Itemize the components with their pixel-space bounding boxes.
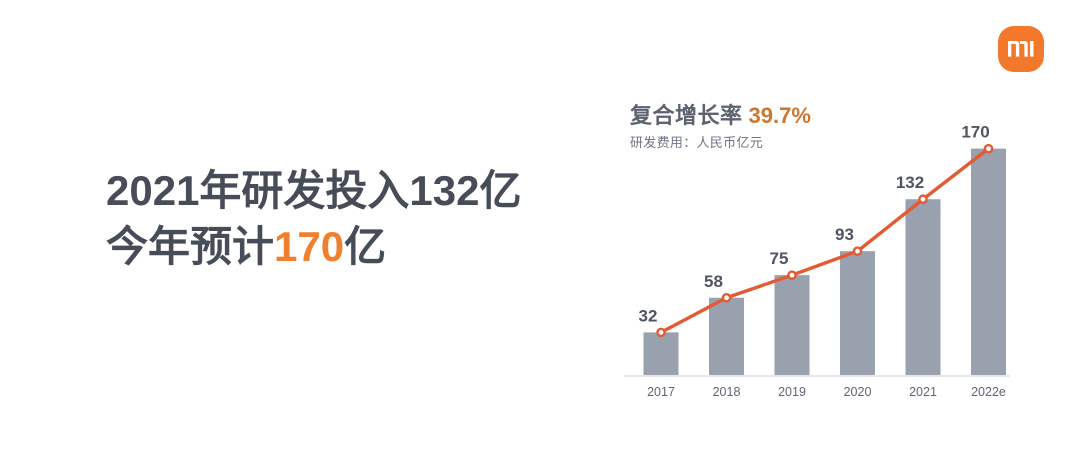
data-point-marker: [854, 248, 861, 255]
bar-value-label: 32: [639, 306, 658, 325]
chart-svg: 32587593132170 201720182019202020212022e: [610, 86, 1020, 406]
xiaomi-mi-logo: [998, 26, 1044, 72]
bar: [775, 275, 810, 375]
chart-plot-area: 32587593132170 201720182019202020212022e: [610, 86, 1020, 386]
mi-wordmark-icon: [1007, 39, 1035, 59]
bar-value-label: 132: [896, 173, 924, 192]
headline-line-1: 2021年研发投入132亿: [106, 163, 576, 219]
x-tick-label: 2017: [647, 385, 675, 399]
bar: [709, 298, 744, 375]
headline-accent-number: 170: [274, 223, 344, 270]
x-tick-label: 2019: [778, 385, 806, 399]
rnd-spending-chart: 复合增长率39.7% 研发费用：人民币亿元 32587593132170 201…: [610, 86, 1020, 406]
data-point-marker: [919, 196, 926, 203]
bar: [644, 332, 679, 375]
bar-value-label: 58: [704, 272, 723, 291]
data-point-marker: [788, 272, 795, 279]
x-tick-label: 2018: [713, 385, 741, 399]
bar-value-label: 75: [770, 249, 789, 268]
x-tick-label: 2021: [909, 385, 937, 399]
bar: [906, 199, 941, 375]
x-tick-label: 2022e: [971, 385, 1006, 399]
x-axis-tick-labels: 201720182019202020212022e: [647, 385, 1006, 399]
data-point-marker: [723, 294, 730, 301]
bar-value-label: 93: [835, 225, 854, 244]
page-title: 2021年研发投入132亿 今年预计170亿: [106, 163, 576, 275]
data-point-marker: [985, 145, 992, 152]
slide-canvas: 2021年研发投入132亿 今年预计170亿 复合增长率39.7% 研发费用：人…: [0, 0, 1080, 463]
bar: [840, 251, 875, 375]
headline-line-2-suffix: 亿: [344, 223, 386, 270]
headline-line-2: 今年预计170亿: [106, 219, 576, 275]
bar: [971, 149, 1006, 375]
headline-line-2-prefix: 今年预计: [106, 223, 274, 270]
x-tick-label: 2020: [844, 385, 872, 399]
bar-value-label: 170: [961, 123, 989, 142]
data-point-marker: [657, 329, 664, 336]
